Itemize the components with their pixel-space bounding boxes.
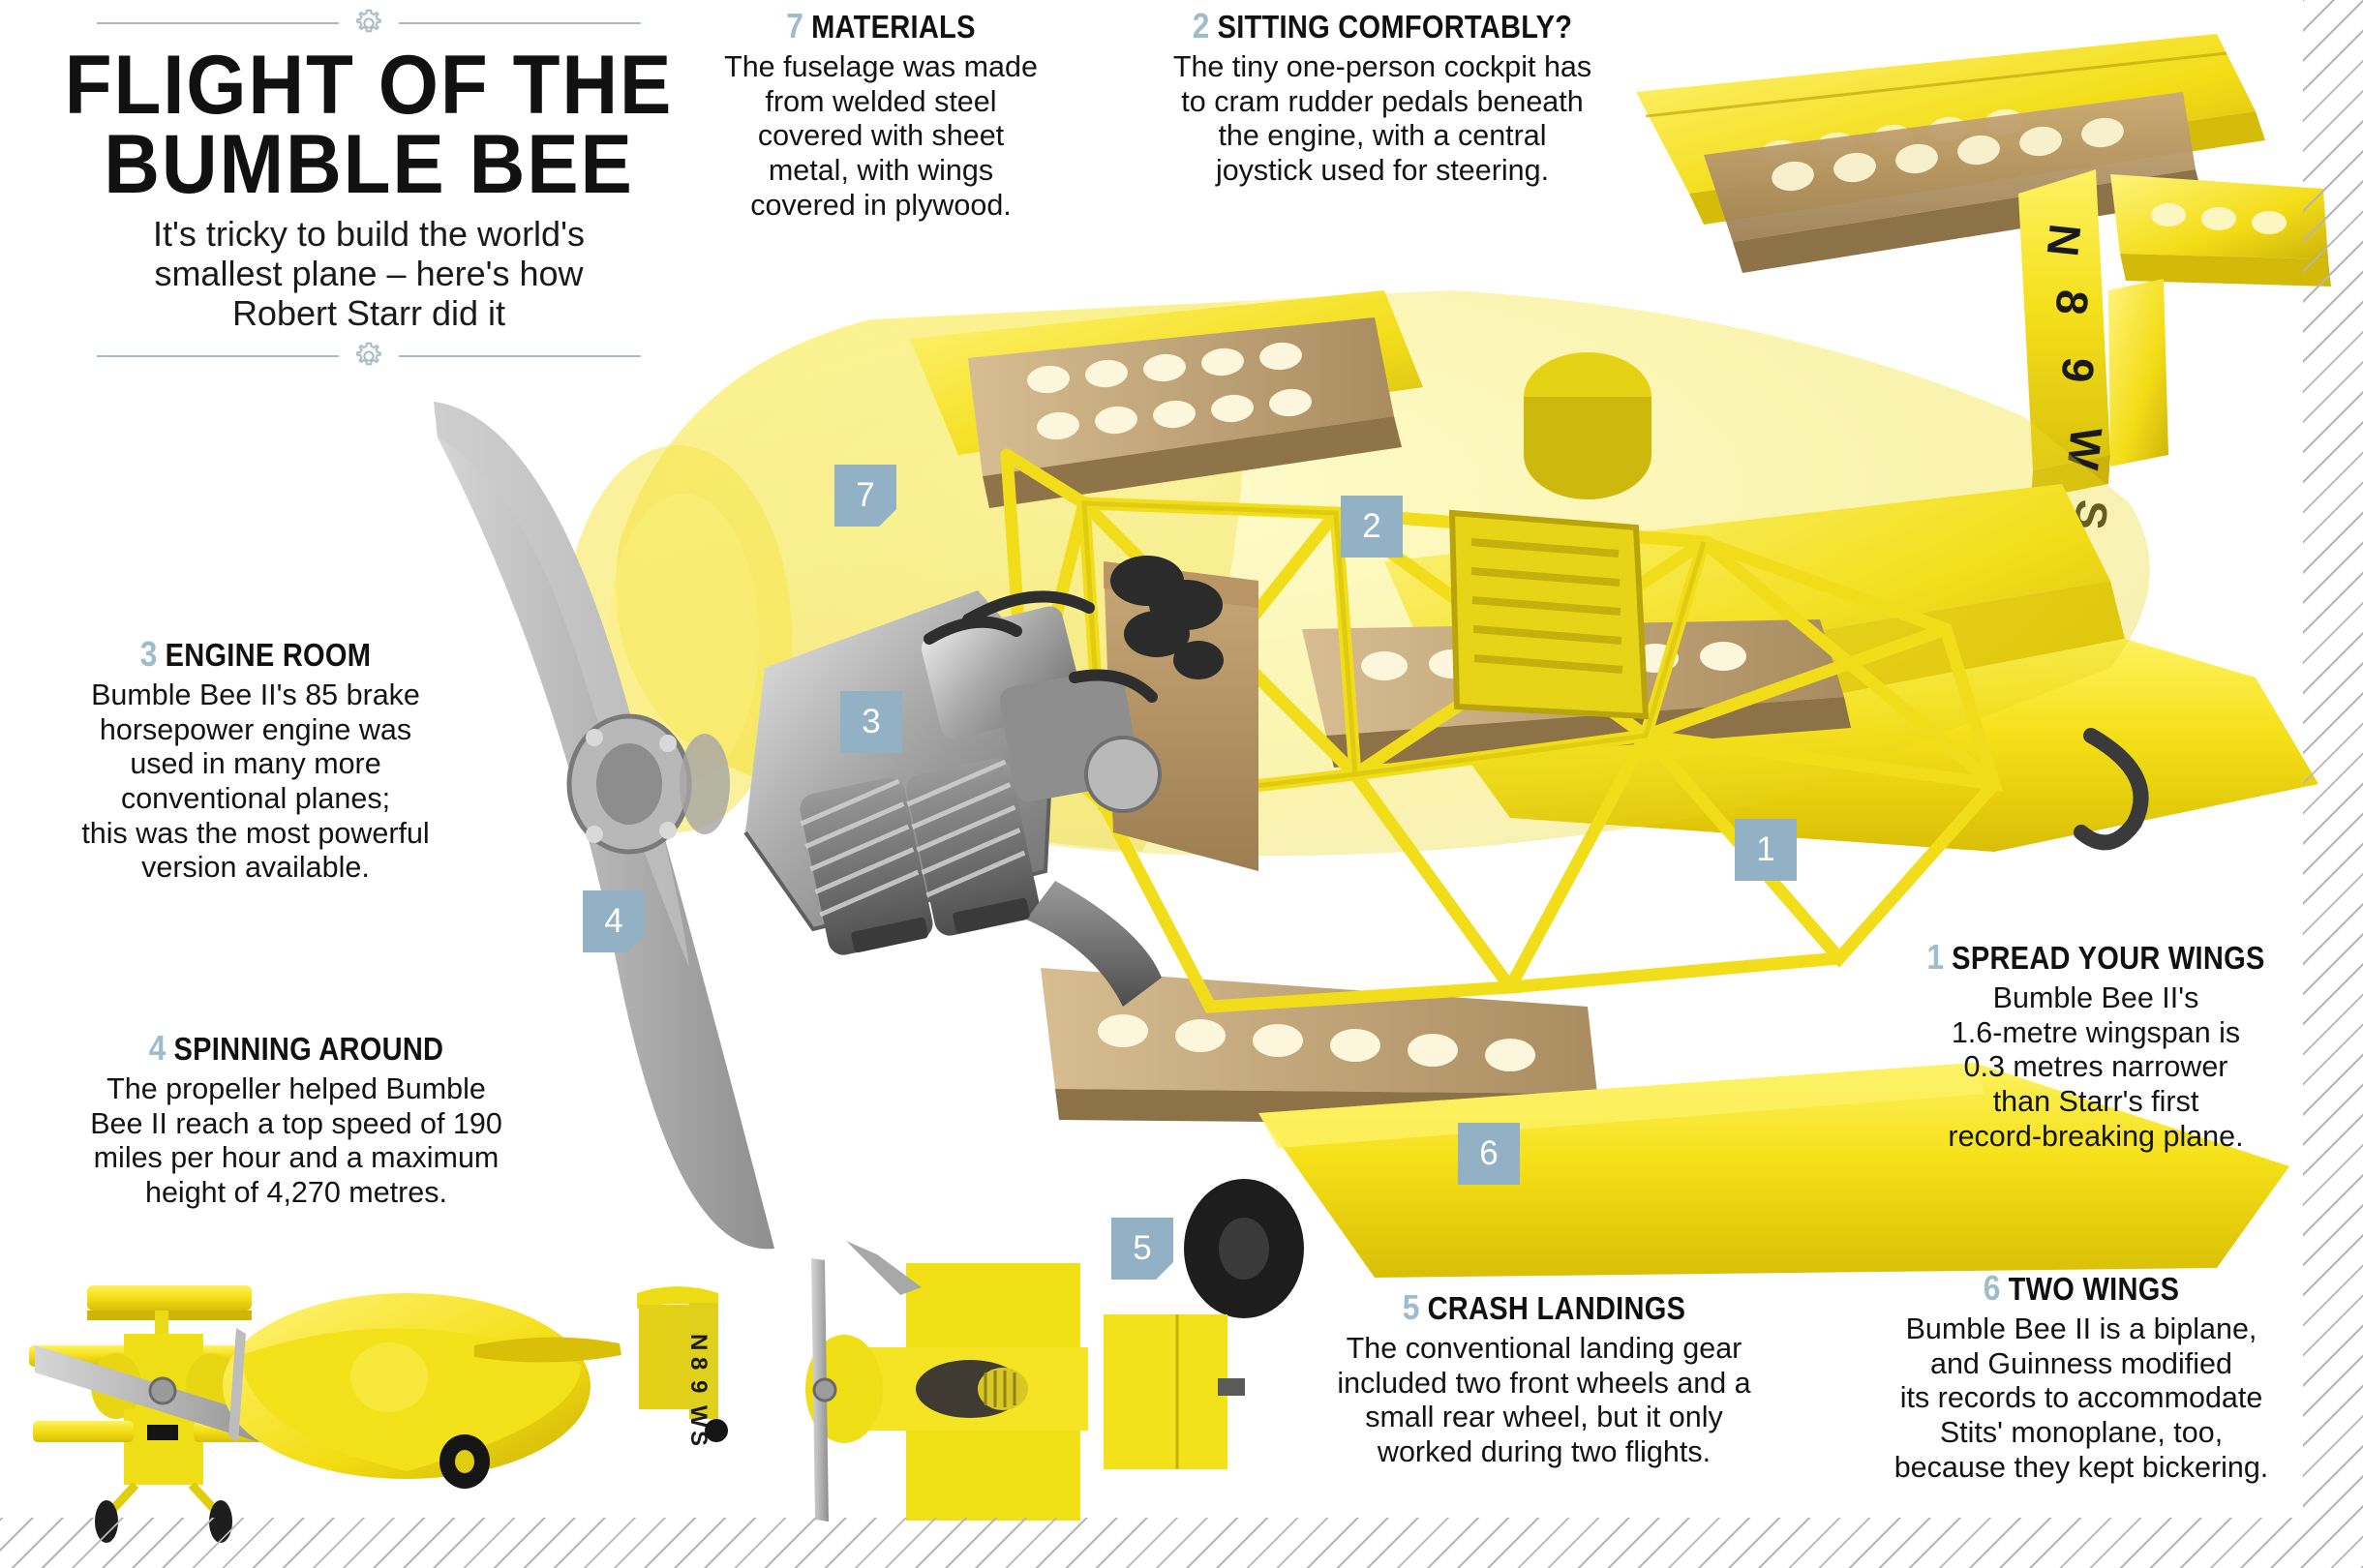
callout-title: TWO WINGS bbox=[2009, 1271, 2180, 1307]
callout-body: The propeller helped Bumble Bee II reach… bbox=[45, 1072, 548, 1211]
svg-text:S: S bbox=[2065, 498, 2118, 532]
page-subtitle: It's tricky to build the world's smalles… bbox=[48, 214, 689, 333]
callout-title: CRASH LANDINGS bbox=[1428, 1290, 1686, 1326]
callout-number: 2 bbox=[1193, 6, 1210, 45]
svg-text:W: W bbox=[685, 1405, 712, 1428]
marker-badge-1[interactable]: 1 bbox=[1735, 819, 1797, 881]
marker-badge-4[interactable]: 4 bbox=[583, 890, 645, 952]
callout-heading: 4SPINNING AROUND bbox=[75, 1028, 518, 1069]
callout-title: MATERIALS bbox=[811, 9, 976, 45]
callout-two-wings: 6TWO WINGS Bumble Bee II is a biplane, a… bbox=[1839, 1268, 2323, 1485]
rule-right bbox=[399, 22, 641, 24]
marker-badge-5[interactable]: 5 bbox=[1111, 1218, 1173, 1280]
callout-title: SPINNING AROUND bbox=[174, 1031, 444, 1067]
svg-text:S: S bbox=[685, 1431, 712, 1446]
callout-heading: 3ENGINE ROOM bbox=[43, 634, 469, 675]
title-bottom-ornament bbox=[35, 337, 703, 376]
title-block: FLIGHT OF THE BUMBLE BEE It's tricky to … bbox=[35, 4, 703, 376]
svg-text:9: 9 bbox=[2051, 355, 2104, 385]
infographic-canvas: N 8 9 W S bbox=[0, 0, 2363, 1568]
callout-body: The tiny one-person cockpit has to cram … bbox=[1140, 50, 1624, 189]
front-view-art bbox=[29, 1285, 296, 1543]
marker-badge-6[interactable]: 6 bbox=[1458, 1123, 1520, 1185]
top-view-art bbox=[805, 1241, 1245, 1522]
callout-number: 5 bbox=[1403, 1287, 1420, 1327]
gear-icon bbox=[352, 340, 385, 373]
callout-spread-your-wings: 1SPREAD YOUR WINGS Bumble Bee II's 1.6-m… bbox=[1868, 937, 2323, 1154]
callout-number: 4 bbox=[149, 1028, 167, 1068]
title-top-ornament bbox=[35, 4, 703, 43]
callout-number: 3 bbox=[140, 634, 158, 674]
callout-number: 1 bbox=[1926, 937, 1944, 977]
side-view-art bbox=[223, 1286, 728, 1489]
svg-text:8: 8 bbox=[685, 1357, 712, 1370]
callout-body: Bumble Bee II's 1.6-metre wingspan is 0.… bbox=[1868, 981, 2323, 1154]
marker-badge-3[interactable]: 3 bbox=[840, 691, 902, 753]
marker-badge-7[interactable]: 7 bbox=[834, 465, 896, 527]
callout-spinning-around: 4SPINNING AROUND The propeller helped Bu… bbox=[45, 1028, 548, 1211]
rule-left-lower bbox=[97, 355, 339, 357]
svg-text:N: N bbox=[2038, 222, 2091, 258]
callout-engine-room: 3ENGINE ROOM Bumble Bee II's 85 brake ho… bbox=[14, 634, 498, 886]
callout-body: Bumble Bee II is a biplane, and Guinness… bbox=[1839, 1312, 2323, 1485]
callout-heading: 1SPREAD YOUR WINGS bbox=[1895, 937, 2296, 978]
page-title: FLIGHT OF THE BUMBLE BEE bbox=[58, 46, 680, 204]
gear-icon bbox=[352, 7, 385, 40]
callout-title: SITTING COMFORTABLY? bbox=[1218, 9, 1573, 45]
callout-sitting-comfortably: 2SITTING COMFORTABLY? The tiny one-perso… bbox=[1140, 6, 1624, 189]
callout-number: 7 bbox=[786, 6, 803, 45]
callout-title: SPREAD YOUR WINGS bbox=[1952, 940, 2264, 976]
callout-title: ENGINE ROOM bbox=[166, 637, 372, 673]
callout-materials: 7MATERIALS The fuselage was made from we… bbox=[716, 6, 1045, 223]
svg-text:W: W bbox=[2057, 425, 2111, 472]
svg-text:N: N bbox=[685, 1334, 712, 1350]
callout-heading: 5CRASH LANDINGS bbox=[1318, 1287, 1770, 1328]
marker-badge-2[interactable]: 2 bbox=[1341, 496, 1403, 558]
callout-body: The conventional landing gear included t… bbox=[1288, 1332, 1801, 1470]
callout-heading: 7MATERIALS bbox=[736, 6, 1025, 46]
callout-body: Bumble Bee II's 85 brake horsepower engi… bbox=[14, 678, 498, 886]
svg-text:9: 9 bbox=[685, 1380, 712, 1393]
svg-text:8: 8 bbox=[2045, 287, 2098, 317]
rule-right-lower bbox=[399, 355, 641, 357]
callout-heading: 2SITTING COMFORTABLY? bbox=[1169, 6, 1595, 46]
callout-body: The fuselage was made from welded steel … bbox=[716, 50, 1045, 223]
callout-crash-landings: 5CRASH LANDINGS The conventional landing… bbox=[1288, 1287, 1801, 1470]
rule-left bbox=[97, 22, 339, 24]
callout-number: 6 bbox=[1984, 1268, 2001, 1308]
callout-heading: 6TWO WINGS bbox=[1868, 1268, 2294, 1309]
bottom-edge-hatch bbox=[0, 1518, 2363, 1568]
